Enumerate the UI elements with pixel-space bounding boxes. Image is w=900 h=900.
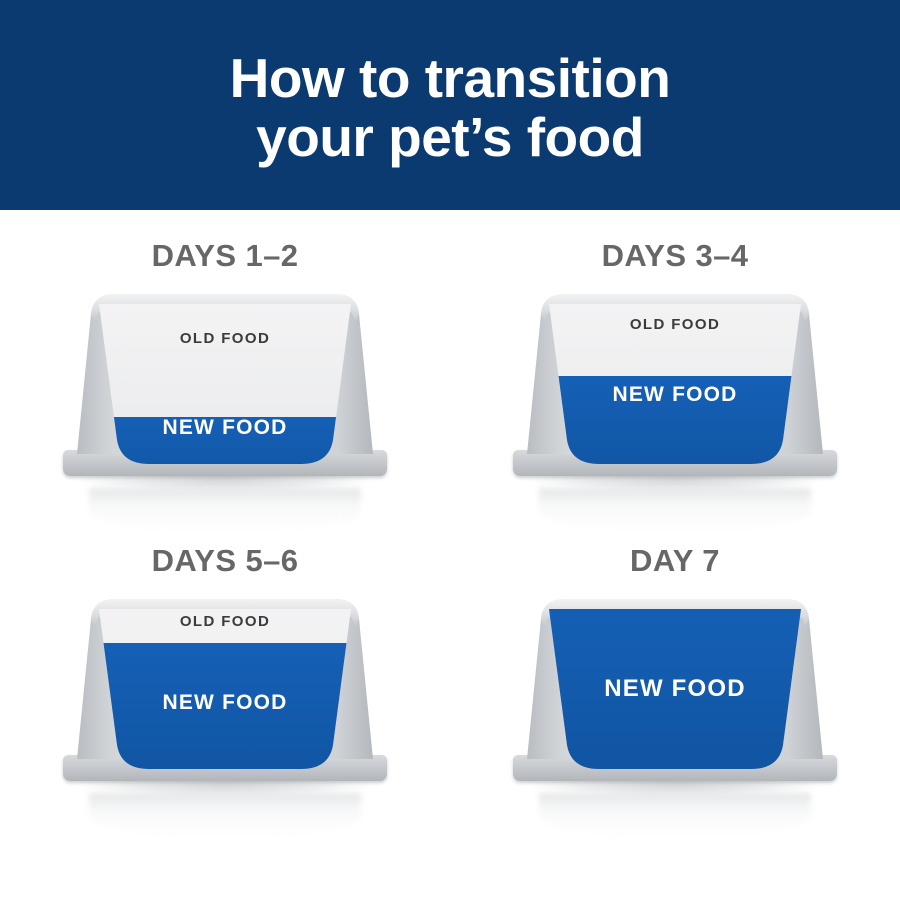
page-title-line-1: How to transition <box>230 49 671 108</box>
step-heading-4: DAY 7 <box>630 543 720 579</box>
transition-step-4: DAY 7 NEW FOOD <box>450 525 900 855</box>
header-banner: How to transition your pet’s food <box>0 0 900 210</box>
transition-step-1: DAYS 1–2 <box>0 210 450 525</box>
page-title: How to transition your pet’s food <box>230 43 671 167</box>
food-bowl-3: OLD FOOD NEW FOOD <box>55 593 395 803</box>
step-heading-2: DAYS 3–4 <box>602 238 749 274</box>
step-heading-1: DAYS 1–2 <box>152 238 299 274</box>
transition-step-3: DAYS 5–6 OLD FOOD NEW FOOD <box>0 525 450 855</box>
bowl-graphic-2 <box>505 288 845 498</box>
transition-steps-grid: DAYS 1–2 <box>0 210 900 900</box>
transition-step-2: DAYS 3–4 OLD FOOD NEW FOOD <box>450 210 900 525</box>
page-title-line-2: your pet’s food <box>230 108 671 167</box>
bowl-graphic-3 <box>55 593 395 803</box>
food-bowl-1: OLD FOOD NEW FOOD <box>55 288 395 498</box>
step-heading-3: DAYS 5–6 <box>152 543 299 579</box>
food-bowl-2: OLD FOOD NEW FOOD <box>505 288 845 498</box>
bowl-graphic-1 <box>55 288 395 498</box>
bowl-graphic-4 <box>505 593 845 803</box>
food-bowl-4: NEW FOOD <box>505 593 845 803</box>
